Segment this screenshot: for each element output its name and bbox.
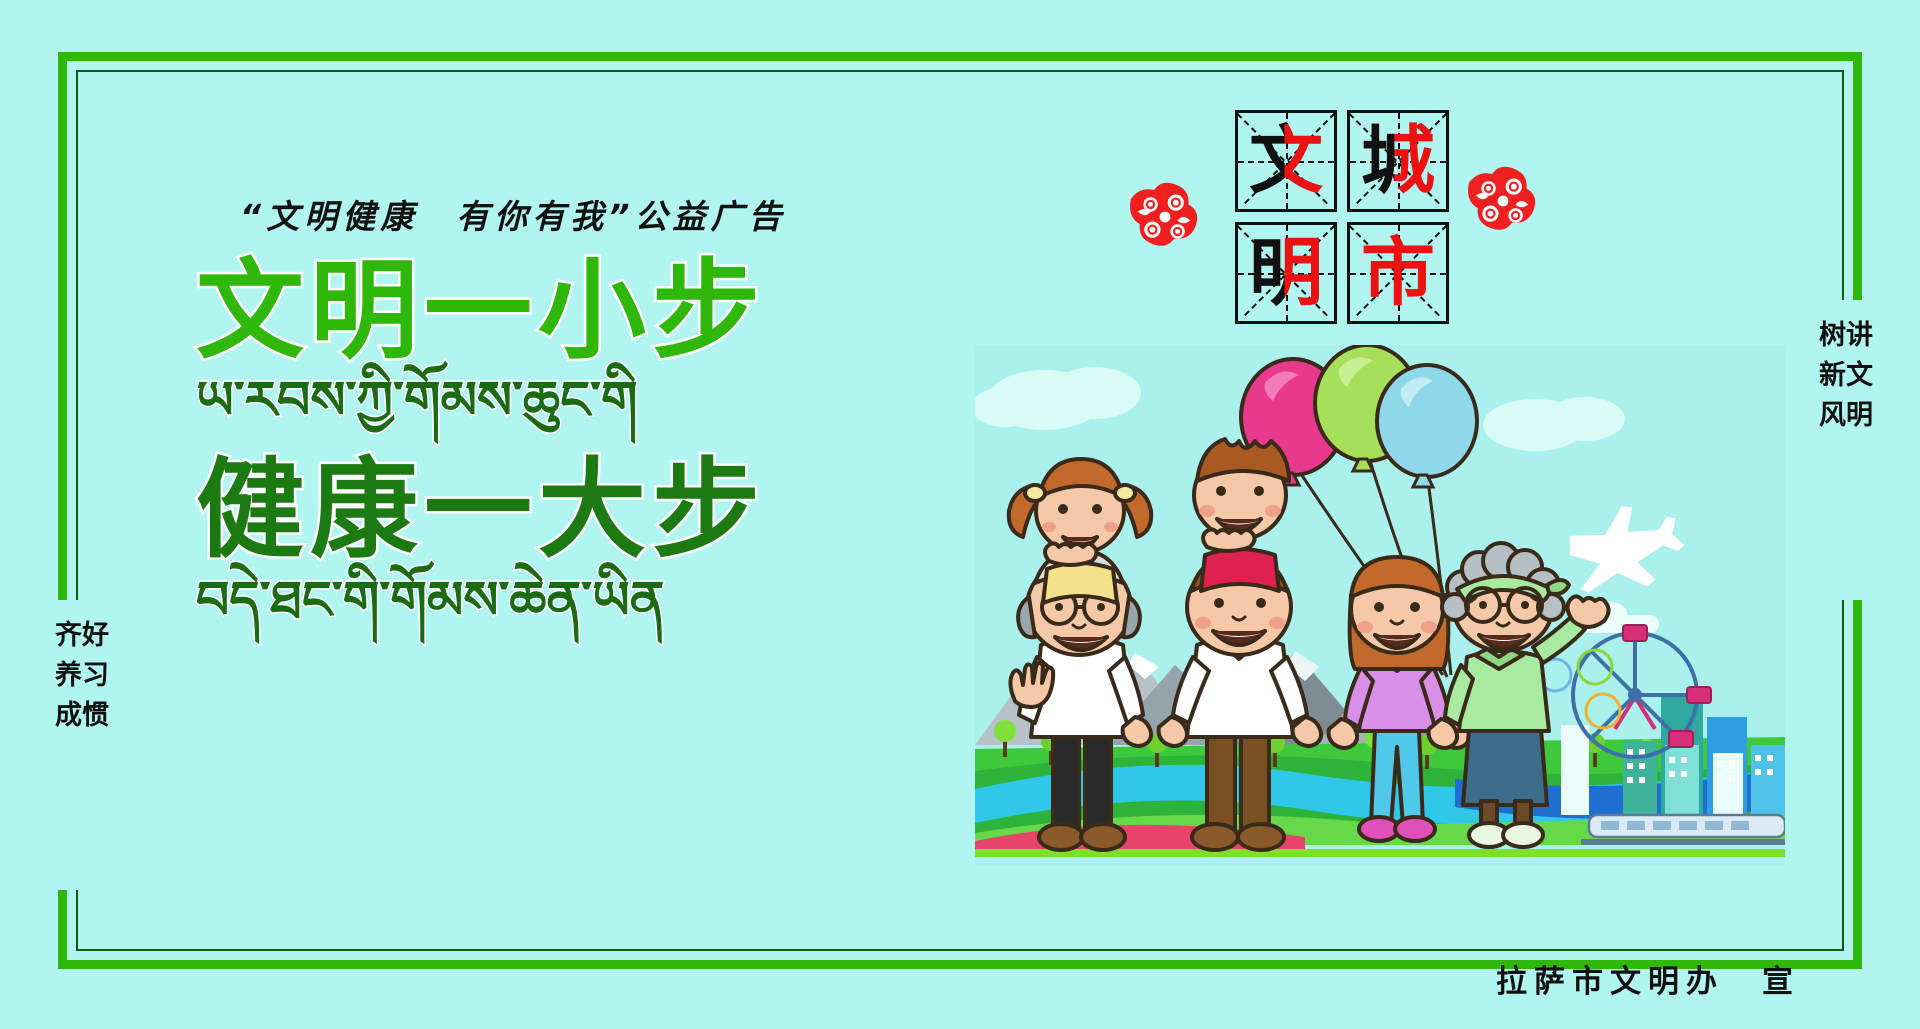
logo-char-wen: 文 文 [1249, 124, 1323, 198]
logo-char-ming: 明 明 [1249, 236, 1323, 310]
illustration-canvas [975, 345, 1785, 865]
family-illustration [975, 345, 1785, 865]
papercut-ornament-right-icon [1458, 156, 1548, 246]
grid-cell-wen: 文 文 [1235, 110, 1337, 212]
headline-line-1-tibetan: ཡ་རབས་ཀྱི་གོམས་ཆུང་གི [196, 372, 916, 432]
grid-cell-shi: 市 [1347, 222, 1449, 324]
left-vertical-caption: 好习惯 齐养成 [52, 620, 106, 740]
right-caption-segment-2: 树新风 [1816, 320, 1843, 440]
train [1581, 815, 1785, 845]
headline-line-2-chinese: 健康一大步 [196, 454, 916, 567]
headline-block: 文明一小步 ཡ་རབས་ཀྱི་གོམས་ཆུང་གི 健康一大步 བདེ་ཐང… [196, 255, 916, 631]
issuer-signature: 拉萨市文明办 宣 [1496, 956, 1800, 1001]
right-caption-segment-1: 讲文明 [1843, 320, 1870, 440]
character-grid: 文 文 城 城 明 明 [1235, 110, 1443, 318]
poster-canvas: 好习惯 齐养成 讲文明 树新风 “文明健康 有你有我”公益广告 文明一小步 ཡ་… [0, 0, 1920, 1029]
grid-cell-ming: 明 明 [1235, 222, 1337, 324]
left-caption-segment-2: 齐养成 [52, 620, 79, 740]
logo-char-shi: 市 [1361, 236, 1435, 310]
right-vertical-caption: 讲文明 树新风 [1816, 320, 1870, 440]
civilized-city-logo: 文 文 城 城 明 明 [1120, 110, 1540, 335]
left-caption-segment-1: 好习惯 [79, 620, 106, 740]
campaign-subtitle: “文明健康 有你有我”公益广告 [240, 190, 787, 238]
papercut-ornament-left-icon [1120, 172, 1210, 262]
logo-char-cheng: 城 城 [1361, 124, 1435, 198]
person-boy-on-shoulders [1194, 439, 1289, 591]
headline-line-2-tibetan: བདེ་ཐང་གི་གོམས་ཆེན་ཡིན [196, 572, 916, 632]
grid-cell-cheng: 城 城 [1347, 110, 1449, 212]
headline-line-1-chinese: 文明一小步 [196, 255, 916, 368]
